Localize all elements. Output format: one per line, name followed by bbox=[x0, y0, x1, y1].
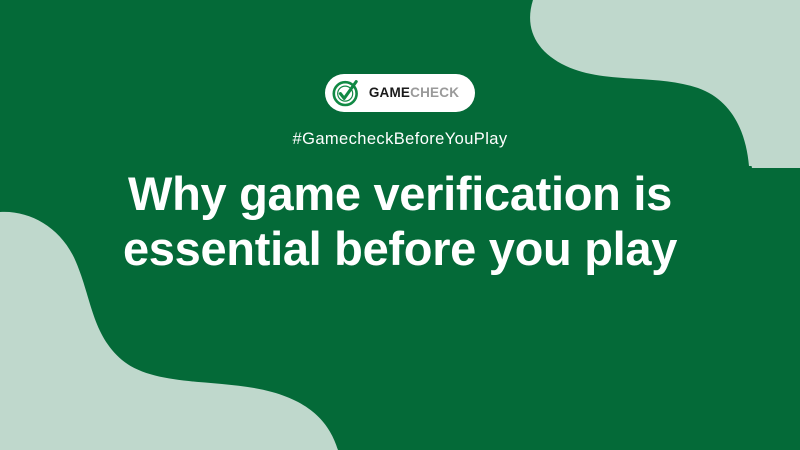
brand-wordmark: GAMECHECK bbox=[369, 86, 459, 100]
slide-canvas: GAMECHECK #GamecheckBeforeYouPlay Why ga… bbox=[0, 0, 800, 450]
wordmark-game: GAME bbox=[369, 86, 410, 100]
hashtag-text: #GamecheckBeforeYouPlay bbox=[293, 131, 508, 148]
wordmark-check: CHECK bbox=[410, 86, 459, 100]
brand-logo: GAMECHECK bbox=[325, 74, 475, 112]
slide-content: GAMECHECK #GamecheckBeforeYouPlay Why ga… bbox=[0, 0, 800, 450]
check-circle-icon bbox=[331, 78, 361, 108]
headline-title: Why game verification is essential befor… bbox=[80, 166, 720, 277]
